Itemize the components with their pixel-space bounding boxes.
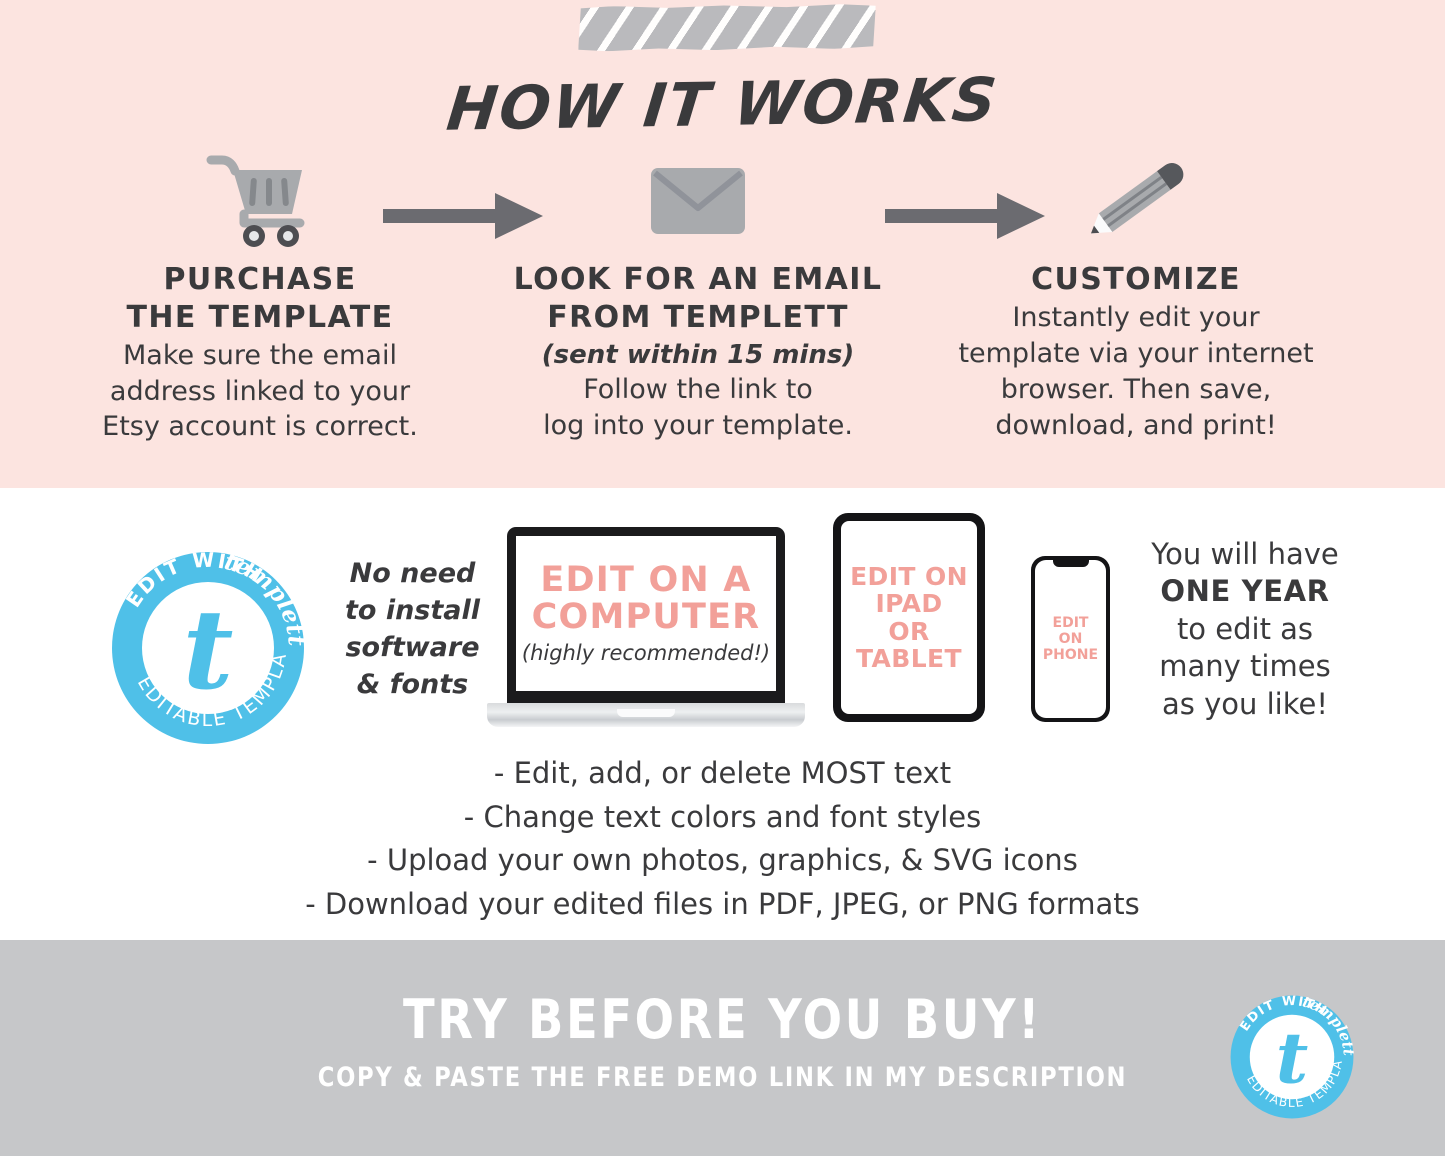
- one-year-line-5: as you like!: [1122, 686, 1368, 723]
- step-3-title: CUSTOMIZE: [926, 261, 1346, 299]
- laptop-lid: EDIT ON A COMPUTER (highly recommended!): [507, 527, 785, 705]
- one-year-highlight: ONE YEAR: [1122, 573, 1368, 610]
- step-3-body-line-3: browser. Then save,: [926, 372, 1346, 408]
- no-install-line-1: No need: [330, 556, 495, 593]
- phone-screen-text: EDIT ON PHONE: [1043, 615, 1098, 663]
- steps-row: PURCHASE THE TEMPLATE Make sure the emai…: [0, 145, 1445, 445]
- step-2-title-line-2: FROM TEMPLETT: [488, 299, 908, 337]
- tablet-line-4: TABLET: [850, 645, 968, 673]
- step-2-title: LOOK FOR AN EMAIL FROM TEMPLETT: [488, 261, 908, 337]
- step-1-title-line-2: THE TEMPLATE: [50, 299, 470, 337]
- step-1-title: PURCHASE THE TEMPLATE: [50, 261, 470, 337]
- feature-item-4: - Download your edited files in PDF, JPE…: [0, 883, 1445, 927]
- step-2-title-line-1: LOOK FOR AN EMAIL: [488, 261, 908, 299]
- phone-notch: [1053, 560, 1089, 567]
- laptop-device: EDIT ON A COMPUTER (highly recommended!): [487, 527, 805, 732]
- templett-badge-icon: EDIT WITH templett EDITABLE TEMPLATE t: [108, 548, 308, 748]
- step-3-body-line-2: template via your internet: [926, 336, 1346, 372]
- tablet-line-2: IPAD: [850, 590, 968, 618]
- step-2-body-line-2: Follow the link to: [488, 372, 908, 408]
- step-1-body-line-2: address linked to your: [50, 374, 470, 410]
- step-2-body-line-1: (sent within 15 mins): [488, 338, 908, 373]
- feature-item-2: - Change text colors and font styles: [0, 796, 1445, 840]
- step-3-body: Instantly edit your template via your in…: [926, 300, 1346, 444]
- pencil-icon: [1076, 152, 1196, 248]
- no-install-line-4: & fonts: [330, 667, 495, 704]
- how-it-works-section: HOW IT WORKS: [0, 0, 1445, 488]
- one-year-line-1: You will have: [1122, 536, 1368, 573]
- phone-line-1: EDIT: [1043, 615, 1098, 631]
- badge-center-letter: t: [183, 585, 234, 714]
- no-install-line-3: software: [330, 630, 495, 667]
- step-1-body: Make sure the email address linked to yo…: [50, 338, 470, 446]
- laptop-screen: EDIT ON A COMPUTER (highly recommended!): [516, 536, 776, 691]
- envelope-icon: [649, 164, 747, 236]
- laptop-head-line-2: COMPUTER: [532, 599, 761, 636]
- one-year-text: You will have ONE YEAR to edit as many t…: [1122, 536, 1368, 723]
- shopping-cart-icon: [206, 152, 314, 248]
- washi-tape-decoration: [578, 3, 876, 51]
- page-title: HOW IT WORKS: [0, 57, 1445, 152]
- step-3-body-line-4: download, and print!: [926, 408, 1346, 444]
- no-install-text: No need to install software & fonts: [330, 556, 495, 704]
- step-email: LOOK FOR AN EMAIL FROM TEMPLETT (sent wi…: [488, 145, 908, 444]
- step-3-icon-box: [926, 145, 1346, 255]
- footer-subtitle: COPY & PASTE THE FREE DEMO LINK IN MY DE…: [116, 1062, 1330, 1093]
- tablet-line-3: OR: [850, 618, 968, 646]
- step-1-body-line-1: Make sure the email: [50, 338, 470, 374]
- tablet-screen: EDIT ON IPAD OR TABLET: [841, 521, 977, 714]
- no-install-line-2: to install: [330, 593, 495, 630]
- feature-item-1: - Edit, add, or delete MOST text: [0, 752, 1445, 796]
- step-3-title-line-1: CUSTOMIZE: [926, 261, 1346, 299]
- laptop-screen-subtext: (highly recommended!): [522, 641, 770, 665]
- laptop-screen-heading: EDIT ON A COMPUTER: [532, 562, 761, 637]
- footer-title: TRY BEFORE YOU BUY!: [101, 988, 1344, 1051]
- phone-line-3: PHONE: [1043, 647, 1098, 663]
- step-customize: CUSTOMIZE Instantly edit your template v…: [926, 145, 1346, 443]
- footer-badge-center-letter: t: [1276, 1017, 1309, 1100]
- laptop-head-line-1: EDIT ON A: [532, 562, 761, 599]
- feature-item-3: - Upload your own photos, graphics, & SV…: [0, 839, 1445, 883]
- step-2-icon-box: [488, 145, 908, 255]
- step-2-body: (sent within 15 mins) Follow the link to…: [488, 338, 908, 444]
- tablet-device: EDIT ON IPAD OR TABLET: [833, 513, 985, 722]
- step-3-body-line-1: Instantly edit your: [926, 300, 1346, 336]
- step-1-icon-box: [50, 145, 470, 255]
- phone-screen: EDIT ON PHONE: [1035, 560, 1106, 718]
- one-year-line-3: to edit as: [1122, 611, 1368, 648]
- laptop-trackpad-notch: [617, 709, 675, 717]
- feature-list: - Edit, add, or delete MOST text - Chang…: [0, 752, 1445, 926]
- tablet-screen-text: EDIT ON IPAD OR TABLET: [850, 563, 968, 673]
- step-1-title-line-1: PURCHASE: [50, 261, 470, 299]
- laptop-base: [487, 703, 805, 727]
- step-1-body-line-3: Etsy account is correct.: [50, 409, 470, 445]
- step-purchase: PURCHASE THE TEMPLATE Make sure the emai…: [50, 145, 470, 445]
- templett-badge-icon-footer: EDIT WITH templett EDITABLE TEMPLATE t: [1228, 993, 1356, 1121]
- one-year-line-4: many times: [1122, 648, 1368, 685]
- phone-device: EDIT ON PHONE: [1031, 556, 1110, 722]
- phone-line-2: ON: [1043, 631, 1098, 647]
- tablet-line-1: EDIT ON: [850, 563, 968, 591]
- step-2-body-line-3: log into your template.: [488, 408, 908, 444]
